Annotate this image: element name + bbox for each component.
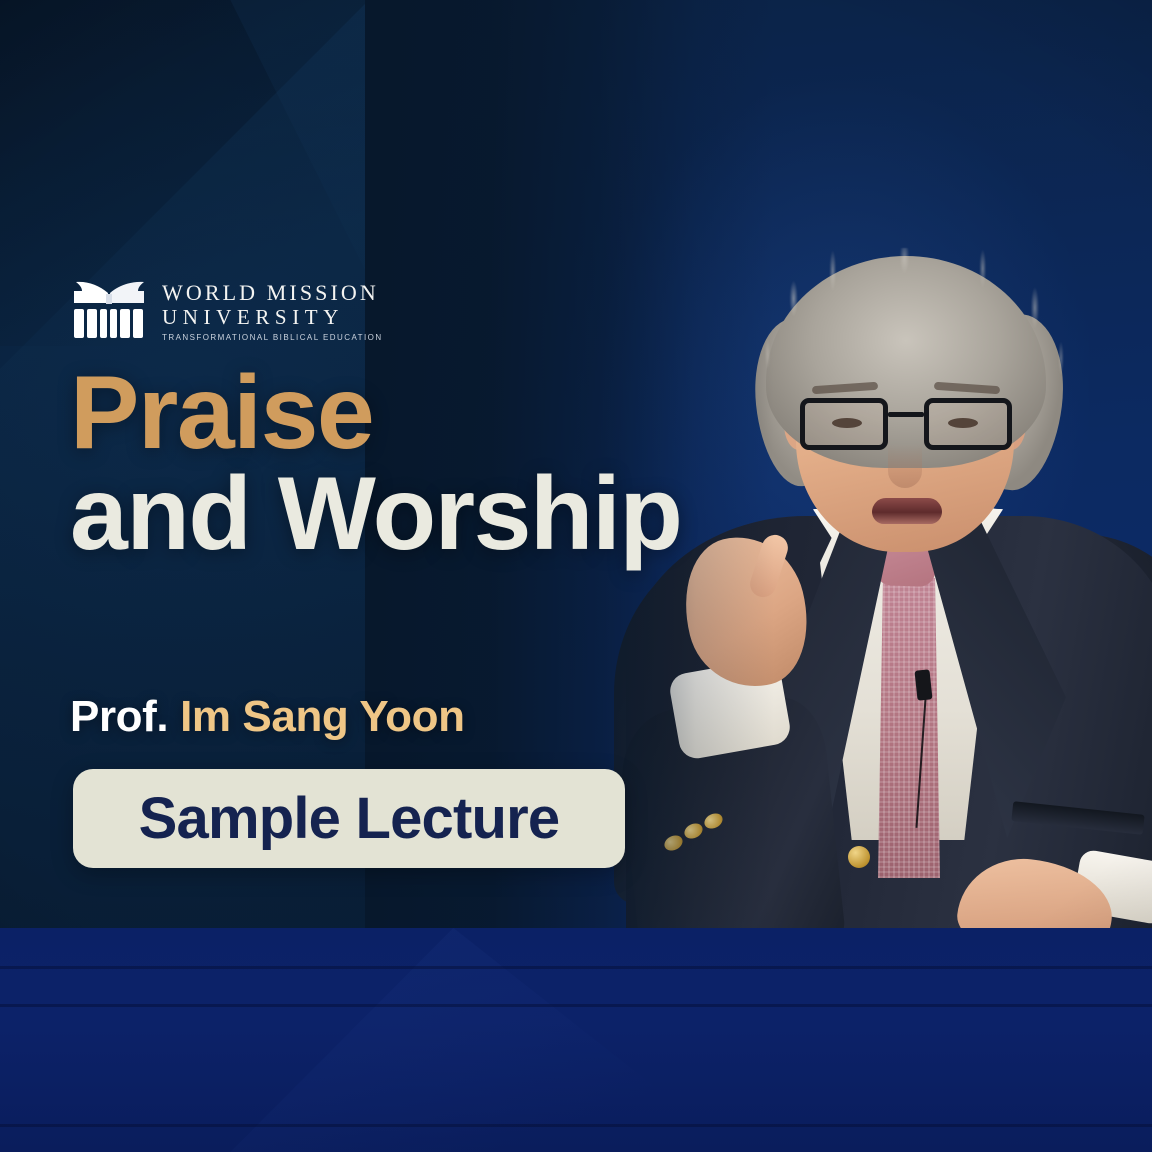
presenter-line: Prof. Im Sang Yoon [70, 692, 465, 742]
sample-lecture-badge-label: Sample Lecture [139, 790, 560, 848]
presenter-name: Im Sang Yoon [180, 692, 465, 741]
title-line-1: Praise [70, 363, 710, 464]
bottom-band-stripe-2 [0, 1004, 1152, 1007]
open-book-logo-icon [70, 276, 148, 342]
presenter-prefix: Prof. [70, 692, 168, 741]
page-title: Praise and Worship [70, 363, 710, 565]
logo-wordmark: WORLD MISSION UNIVERSITY TRANSFORMATIONA… [162, 276, 383, 342]
sample-lecture-badge[interactable]: Sample Lecture [73, 769, 625, 868]
logo-line-1: WORLD MISSION [162, 281, 383, 306]
logo-line-2: UNIVERSITY [162, 306, 383, 330]
lecture-promo-poster: WORLD MISSION UNIVERSITY TRANSFORMATIONA… [0, 0, 1152, 1152]
bottom-band-stripe-1 [0, 966, 1152, 969]
logo-tagline: TRANSFORMATIONAL BIBLICAL EDUCATION [162, 333, 383, 342]
university-logo: WORLD MISSION UNIVERSITY TRANSFORMATIONA… [70, 276, 383, 342]
title-line-2: and Worship [70, 464, 710, 565]
bottom-band [0, 928, 1152, 1152]
bottom-band-wedge [230, 928, 737, 1152]
bottom-band-stripe-3 [0, 1124, 1152, 1127]
